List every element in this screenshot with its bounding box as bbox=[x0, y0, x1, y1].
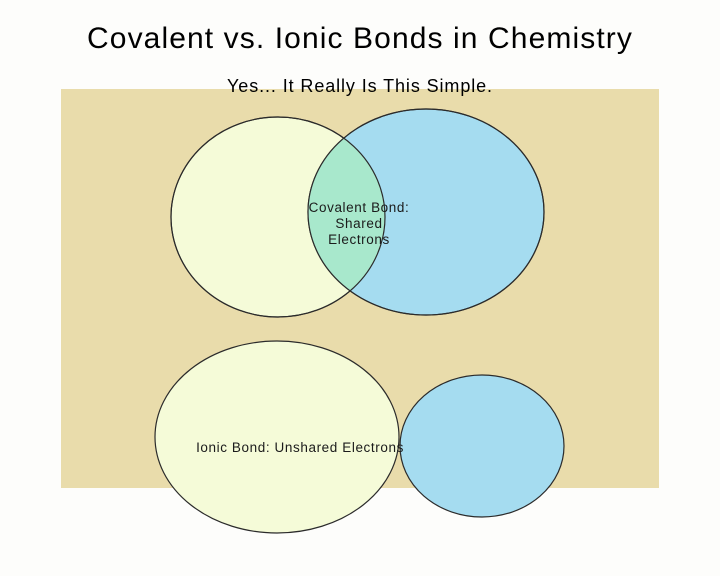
page-title: Covalent vs. Ionic Bonds in Chemistry bbox=[0, 22, 720, 56]
ionic-group bbox=[155, 341, 564, 533]
ionic-left-circle[interactable] bbox=[155, 341, 399, 533]
covalent-group bbox=[171, 109, 544, 317]
ionic-right-circle[interactable] bbox=[400, 375, 564, 517]
page-subtitle: Yes... It Really Is This Simple. bbox=[0, 76, 720, 97]
slide-canvas: Covalent vs. Ionic Bonds in Chemistry Ye… bbox=[0, 0, 720, 576]
